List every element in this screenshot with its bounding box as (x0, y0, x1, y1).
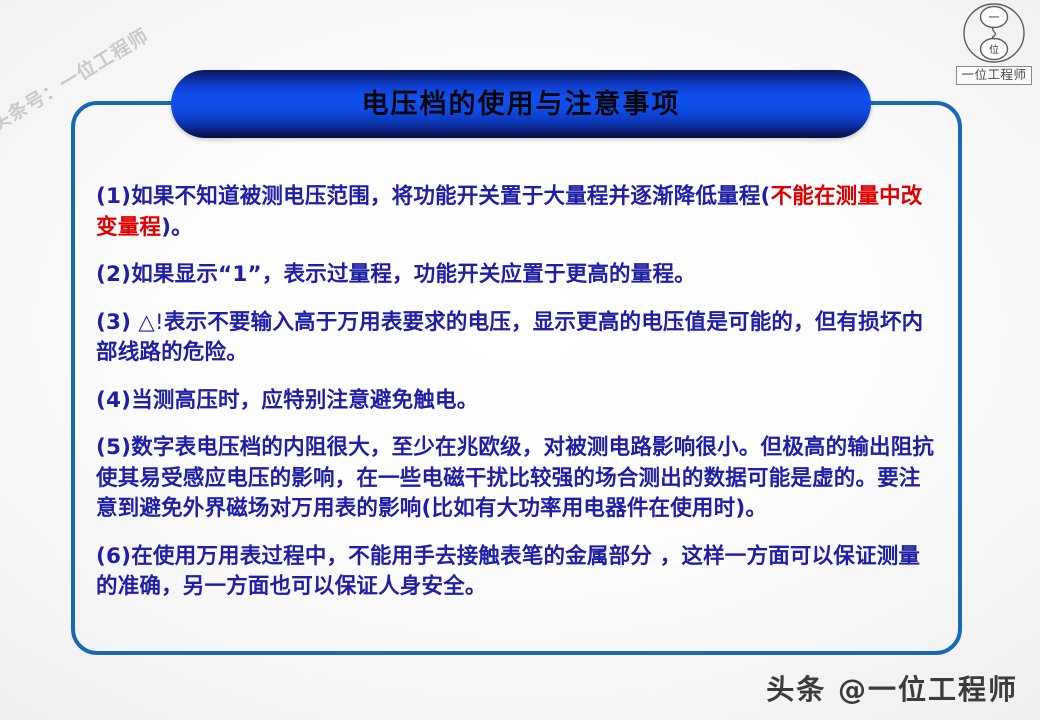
svg-text:位: 位 (989, 43, 999, 56)
list-item: (5)数字表电压档的内阻很大，至少在兆欧级，对被测电路影响很小。但极高的输出阻抗… (96, 433, 941, 525)
item-text-after: )。 (161, 215, 193, 240)
item-text: 数字表电压档的内阻很大，至少在兆欧级，对被测电路影响很小。但极高的输出阻抗使其易… (96, 435, 934, 521)
bottom-right-watermark: 头条 @一位工程师 (766, 668, 1018, 708)
list-item: (1)如果不知道被测电压范围，将功能开关置于大量程并逐渐降低量程(不能在测量中改… (96, 182, 941, 243)
item-number: (4) (96, 388, 131, 413)
item-number: (2) (96, 262, 131, 287)
list-item: (3) △!表示不要输入高于万用表要求的电压，显示更高的电压值是可能的，但有损坏… (96, 308, 941, 369)
logo-mark-icon: 一 位 (959, 3, 1029, 65)
item-text: 如果不知道被测电压范围，将功能开关置于大量程并逐渐降低量程( (131, 184, 770, 209)
slide-canvas: 头条号：一位工程师 一 位 一位工程师 电压档的使用与注意事项 (1)如果不知道… (0, 0, 1040, 720)
item-text: 在使用万用表过程中，不能用手去接触表笔的金属部分 ，这样一方面可以保证测量的准确… (96, 544, 920, 600)
logo-caption: 一位工程师 (956, 66, 1031, 85)
list-item: (4)当测高压时，应特别注意避免触电。 (96, 386, 941, 417)
notes-list: (1)如果不知道被测电压范围，将功能开关置于大量程并逐渐降低量程(不能在测量中改… (96, 182, 941, 603)
page-title: 电压档的使用与注意事项 (362, 91, 681, 118)
warning-triangle-icon: △! (131, 310, 164, 335)
list-item: (6)在使用万用表过程中，不能用手去接触表笔的金属部分 ，这样一方面可以保证测量… (96, 542, 941, 603)
item-number: (3) (96, 310, 131, 335)
item-number: (6) (96, 544, 131, 569)
brand-logo: 一 位 一位工程师 (952, 3, 1036, 85)
item-number: (5) (96, 435, 131, 460)
item-number: (1) (96, 184, 131, 209)
title-banner: 电压档的使用与注意事项 (171, 70, 871, 138)
svg-text:一: 一 (989, 11, 1000, 24)
item-text: 如果显示“1”，表示过量程，功能开关应置于更高的量程。 (131, 262, 696, 287)
list-item: (2)如果显示“1”，表示过量程，功能开关应置于更高的量程。 (96, 260, 941, 291)
item-text: 当测高压时，应特别注意避免触电。 (131, 388, 478, 413)
item-text: 表示不要输入高于万用表要求的电压，显示更高的电压值是可能的，但有损坏内部线路的危… (96, 310, 923, 366)
